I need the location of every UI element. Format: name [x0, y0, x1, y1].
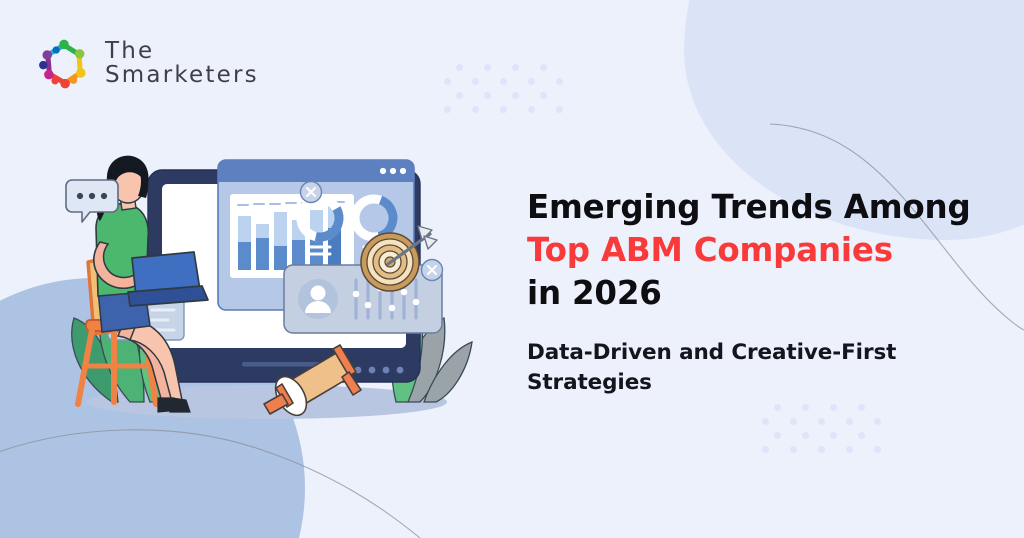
decor-dot [846, 446, 853, 453]
headline-line-2: Top ABM Companies [527, 229, 997, 272]
logo-line-1: The [105, 40, 259, 64]
brand-logo[interactable]: The Smarketers [36, 36, 259, 92]
decor-dot [528, 106, 535, 113]
speech-dot [77, 193, 83, 199]
subtitle-line-1: Data-Driven and Creative-First [527, 338, 997, 369]
decor-dot [802, 432, 809, 439]
headline-line-3: in 2026 [527, 272, 997, 315]
decor-dot [802, 404, 809, 411]
decor-dot [500, 106, 507, 113]
browser-close-icon[interactable] [301, 182, 322, 203]
decor-dot-grid-top [444, 64, 563, 113]
browser-window-dots [380, 168, 406, 174]
logo-line-2: Smarketers [105, 64, 259, 88]
page-title: Emerging Trends Among Top ABM Companies … [527, 186, 997, 316]
decor-dot [512, 92, 519, 99]
decor-dot [818, 418, 825, 425]
decor-dot [444, 106, 451, 113]
profile-card-close-icon[interactable] [422, 260, 443, 281]
decor-dot [456, 92, 463, 99]
speech-dot [101, 193, 107, 199]
decor-dot [444, 78, 451, 85]
decor-dot [512, 64, 519, 71]
decor-dot [472, 78, 479, 85]
decor-dot [540, 64, 547, 71]
avatar-icon [298, 279, 338, 319]
page-subtitle: Data-Driven and Creative-First Strategie… [527, 338, 997, 399]
decor-dot [846, 418, 853, 425]
headline-block: Emerging Trends Among Top ABM Companies … [527, 186, 997, 399]
speech-dot [89, 193, 95, 199]
decor-dot [556, 106, 563, 113]
decor-dot [790, 418, 797, 425]
decor-dot [556, 78, 563, 85]
decor-dot [762, 446, 769, 453]
smarketers-logo-icon [36, 36, 92, 92]
decor-dot-grid-bottom [762, 404, 881, 453]
subtitle-line-2: Strategies [527, 368, 997, 399]
decor-dot [528, 78, 535, 85]
decor-dot [858, 404, 865, 411]
decor-dot [830, 404, 837, 411]
decor-dot [472, 106, 479, 113]
decor-dot [484, 92, 491, 99]
decor-dot [874, 418, 881, 425]
decor-dot [858, 432, 865, 439]
headline-line-1: Emerging Trends Among [527, 186, 997, 229]
decor-dot [790, 446, 797, 453]
decor-dot [774, 404, 781, 411]
decor-dot [774, 432, 781, 439]
banner-root: The Smarketers [0, 0, 1024, 538]
decor-dot [456, 64, 463, 71]
decor-dot [762, 418, 769, 425]
decor-dot [830, 432, 837, 439]
hero-illustration [52, 150, 522, 425]
decor-dot [540, 92, 547, 99]
logo-wordmark: The Smarketers [105, 40, 259, 88]
decor-dot [818, 446, 825, 453]
illustration-svg [52, 150, 522, 425]
decor-dot [500, 78, 507, 85]
decor-dot [874, 446, 881, 453]
decor-dot [484, 64, 491, 71]
